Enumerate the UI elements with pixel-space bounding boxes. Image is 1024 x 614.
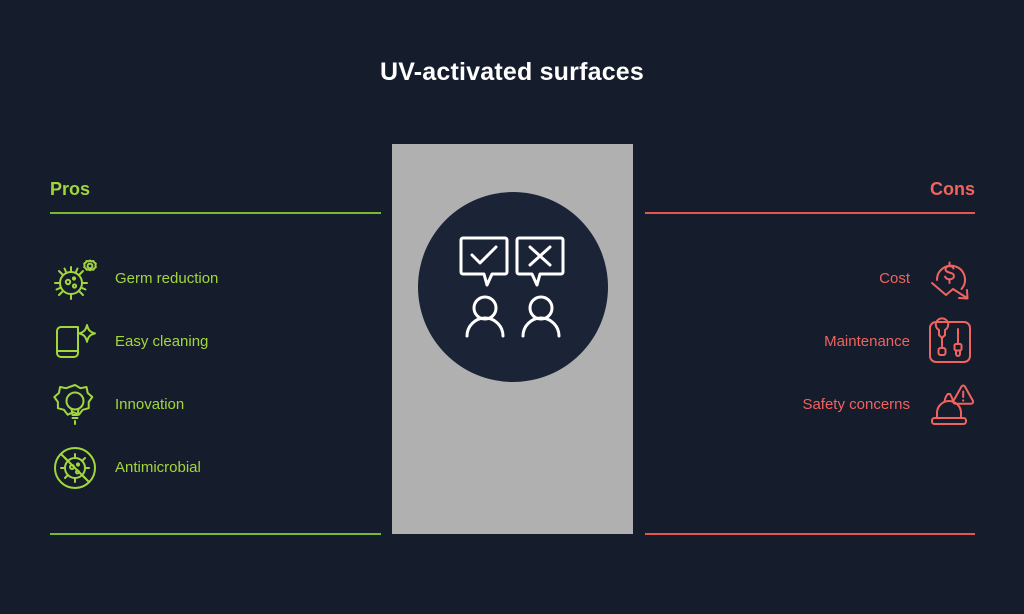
- cons-item-safety-concerns[interactable]: Safety concerns: [645, 373, 975, 436]
- pros-item-germ-reduction[interactable]: Germ reduction: [50, 247, 381, 310]
- cons-heading-rule: [645, 212, 975, 214]
- dollar-down-arrow-icon: [925, 254, 975, 304]
- pros-item-innovation[interactable]: Innovation: [50, 373, 381, 436]
- center-circle: [418, 192, 608, 382]
- cons-item-maintenance[interactable]: Maintenance: [645, 310, 975, 373]
- cons-item-label: Cost: [879, 269, 910, 289]
- cons-bottom-rule: [645, 533, 975, 535]
- pros-column: Pros: [50, 178, 381, 214]
- gear-lightbulb-icon: [50, 380, 100, 430]
- hardhat-warning-icon: [925, 380, 975, 430]
- pros-item-antimicrobial[interactable]: Antimicrobial: [50, 436, 381, 499]
- cons-item-list: Cost Maintenance: [645, 247, 975, 436]
- pros-bottom-rule: [50, 533, 381, 535]
- center-image-panel: [392, 144, 633, 534]
- pros-item-label: Antimicrobial: [115, 458, 201, 478]
- cloth-sparkle-icon: [50, 317, 100, 367]
- wrench-screwdriver-box-icon: [925, 317, 975, 367]
- pros-item-label: Easy cleaning: [115, 332, 208, 352]
- cons-item-cost[interactable]: Cost: [645, 247, 975, 310]
- two-people-speech-bubbles-icon: [453, 232, 573, 342]
- germ-blocked-icon: [50, 443, 100, 493]
- cons-column: Cons: [645, 178, 975, 214]
- pros-heading-rule: [50, 212, 381, 214]
- pros-item-label: Germ reduction: [115, 269, 218, 289]
- page-title: UV-activated surfaces: [0, 58, 1024, 87]
- cons-item-label: Safety concerns: [802, 395, 910, 415]
- cons-heading: Cons: [645, 178, 975, 200]
- pros-item-easy-cleaning[interactable]: Easy cleaning: [50, 310, 381, 373]
- cons-item-label: Maintenance: [824, 332, 910, 352]
- pros-heading: Pros: [50, 178, 381, 200]
- pros-item-label: Innovation: [115, 395, 184, 415]
- pros-item-list: Germ reduction Easy cleaning: [50, 247, 381, 499]
- germ-gear-icon: [50, 254, 100, 304]
- slide-root: UV-activated surfaces: [0, 0, 1024, 614]
